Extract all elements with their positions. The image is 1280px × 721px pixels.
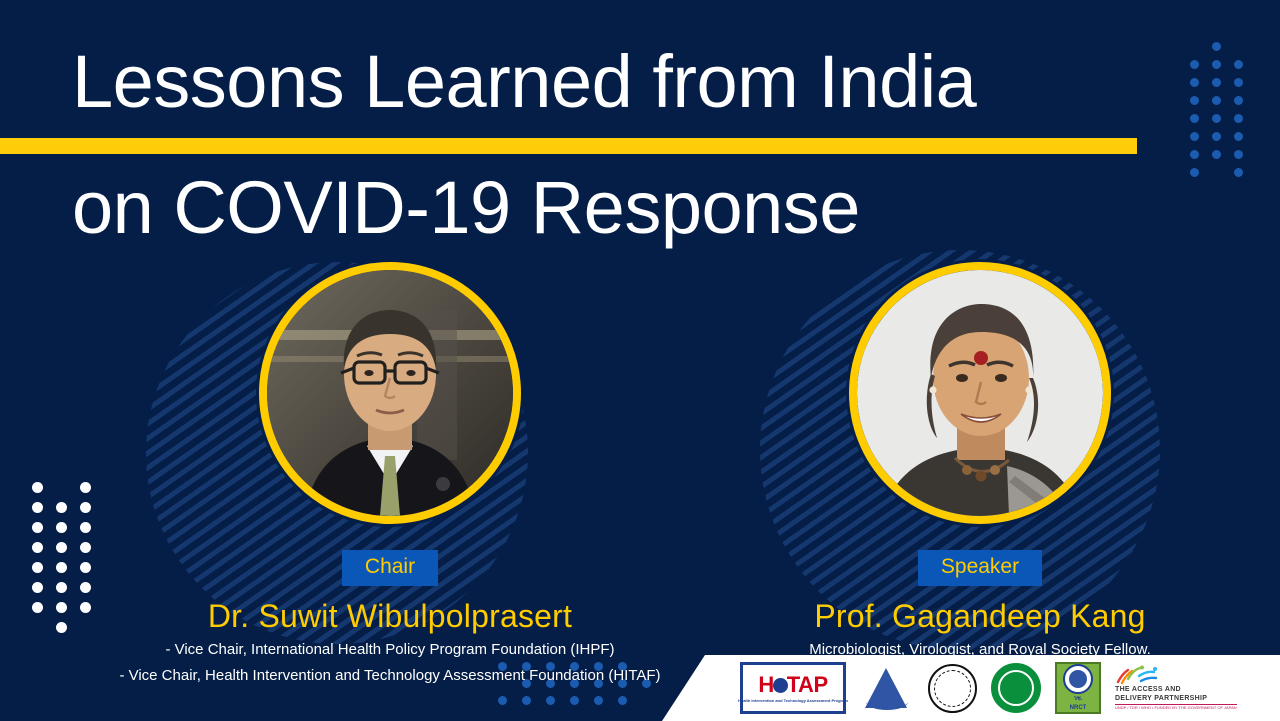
- person-affiliation-chair-line-1: - Vice Chair, International Health Polic…: [40, 639, 740, 661]
- hitap-logo-text-left: H: [758, 674, 773, 696]
- title-line-1: Lessons Learned from India: [0, 44, 1180, 119]
- swoosh-icon: [1115, 665, 1159, 685]
- nrct-logo-thai: วช.: [1073, 696, 1082, 703]
- role-badge-chair: Chair: [342, 550, 438, 586]
- ministry-of-public-health-logo: [991, 664, 1041, 712]
- slide-title: Lessons Learned from India: [0, 44, 1180, 119]
- adp-logo-tagline: UNDP / TDR / WHO • FUNDED BY THE GOVERNM…: [1115, 704, 1237, 711]
- person-card-speaker: Speaker Prof. Gagandeep Kang Microbiolog…: [700, 262, 1260, 661]
- access-and-delivery-partnership-logo: THE ACCESS AND DELIVERY PARTNERSHIP UNDP…: [1115, 664, 1237, 712]
- decorative-dot-grid-top-right: [1190, 42, 1256, 186]
- title-line-2: on COVID-19 Response: [0, 165, 860, 250]
- adp-logo-text: THE ACCESS AND DELIVERY PARTNERSHIP: [1115, 686, 1207, 704]
- person-card-chair: Chair Dr. Suwit Wibulpolprasert - Vice C…: [40, 262, 740, 687]
- portrait-gagandeep-kang: [857, 270, 1103, 516]
- mahidol-university-logo: [860, 664, 914, 712]
- person-name-chair: Dr. Suwit Wibulpolprasert: [40, 598, 740, 635]
- institute-seal-logo: [928, 664, 977, 712]
- webinar-title-slide: Lessons Learned from India on COVID-19 R…: [0, 0, 1280, 721]
- partner-logo-row: H TAP Health Intervention and Technology…: [740, 661, 1237, 715]
- swirl-icon: [866, 694, 908, 710]
- nrct-emblem-icon: [1063, 664, 1093, 694]
- person-affiliation-chair-line-2: - Vice Chair, Health Intervention and Te…: [40, 665, 740, 687]
- hitap-logo-text-right: TAP: [787, 674, 828, 696]
- globe-icon: [773, 678, 788, 693]
- seal-icon: [928, 664, 977, 713]
- person-name-speaker: Prof. Gagandeep Kang: [700, 598, 1260, 635]
- avatar-chair: [259, 262, 521, 524]
- avatar-speaker: [849, 262, 1111, 524]
- nrct-logo: วช. NRCT: [1055, 664, 1101, 712]
- hitap-logo-subtitle: Health Intervention and Technology Asses…: [738, 698, 848, 703]
- portrait-suwit-wibulpolprasert: [267, 270, 513, 516]
- role-badge-speaker: Speaker: [918, 550, 1042, 586]
- caduceus-seal-icon: [991, 663, 1041, 713]
- hitap-logo: H TAP Health Intervention and Technology…: [740, 664, 846, 712]
- nrct-logo-text: NRCT: [1070, 705, 1087, 712]
- title-underline-rule: [0, 138, 1137, 154]
